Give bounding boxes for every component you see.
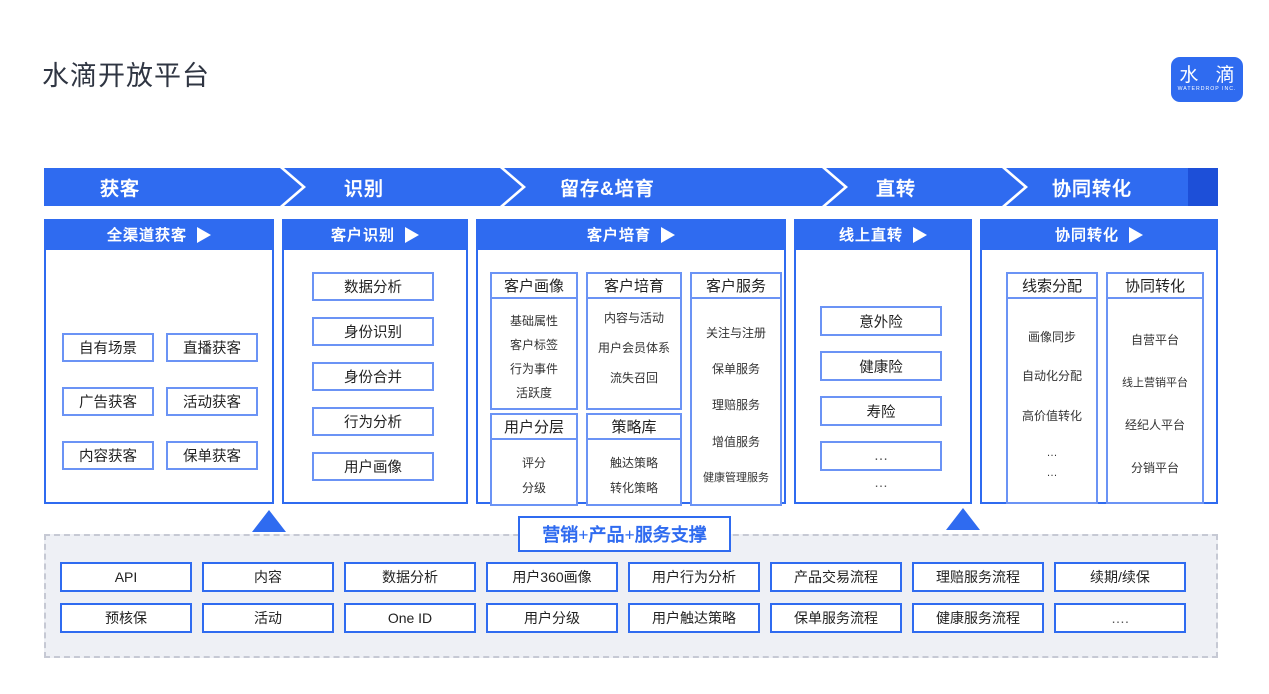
card-item: 高价值转化	[1022, 407, 1082, 424]
support-chip[interactable]: 预核保	[60, 603, 192, 633]
column-header-label: 客户培育	[587, 224, 651, 245]
column-online-direct-conversion: 线上直转 意外险 健康险 寿险 … …	[794, 219, 972, 504]
support-chip[interactable]: 保单服务流程	[770, 603, 902, 633]
card-item: 客户标签	[510, 336, 558, 353]
page-title: 水滴开放平台	[42, 54, 210, 93]
card-user-segmentation: 用户分层 评分 分级	[490, 413, 578, 506]
column-header-label: 全渠道获客	[107, 224, 187, 245]
support-chip[interactable]: API	[60, 562, 192, 592]
card-item: …	[1047, 447, 1058, 459]
card-strategy-library: 策略库 触达策略 转化策略	[586, 413, 682, 506]
play-triangle-icon	[197, 227, 211, 243]
stage-huoke[interactable]: 获客	[44, 168, 292, 206]
chip-item[interactable]: 用户画像	[312, 452, 434, 481]
card-item: 分级	[522, 479, 546, 496]
card-item: 活跃度	[516, 384, 552, 401]
card-item: …	[1047, 467, 1058, 479]
chip-item[interactable]: 寿险	[820, 396, 942, 426]
card-list: 自营平台 线上营销平台 经纪人平台 分销平台	[1106, 299, 1204, 504]
support-chip[interactable]: ….	[1054, 603, 1186, 633]
support-chip[interactable]: 产品交易流程	[770, 562, 902, 592]
column-body: 线索分配 画像同步 自动化分配 高价值转化 … … 协同转化 自营平台 线上营销…	[982, 250, 1216, 502]
card-item: 自动化分配	[1022, 367, 1082, 384]
card-lead-allocation: 线索分配 画像同步 自动化分配 高价值转化 … …	[1006, 272, 1098, 504]
card-item: 内容与活动	[604, 309, 664, 326]
stage-label: 识别	[344, 174, 384, 201]
card-title[interactable]: 策略库	[586, 413, 682, 440]
column-header[interactable]: 客户培育	[476, 219, 786, 250]
card-item: 触达策略	[610, 454, 658, 471]
card-item: 关注与注册	[706, 324, 766, 341]
support-rows: API 内容 数据分析 用户360画像 用户行为分析 产品交易流程 理赔服务流程…	[60, 562, 1206, 644]
stage-tail-accent	[1188, 168, 1218, 206]
logo-en-text: WATERDROP INC.	[1178, 85, 1237, 94]
chip-item[interactable]: 健康险	[820, 351, 942, 381]
stage-shibie[interactable]: 识别	[292, 168, 512, 206]
column-header[interactable]: 全渠道获客	[44, 219, 274, 250]
card-item: 基础属性	[510, 312, 558, 329]
chip-item[interactable]: 身份识别	[312, 317, 434, 346]
column-customer-nurturing: 客户培育 客户画像 基础属性 客户标签 行为事件 活跃度 客户培育 内容与活动 …	[476, 219, 786, 504]
card-list: 关注与注册 保单服务 理赔服务 增值服务 健康管理服务	[690, 299, 782, 506]
support-badge: 营销+产品+服务支撑	[518, 516, 731, 552]
card-list: 画像同步 自动化分配 高价值转化 … …	[1006, 299, 1098, 504]
card-item: 健康管理服务	[703, 469, 769, 485]
play-triangle-icon	[405, 227, 419, 243]
chip-item[interactable]: 行为分析	[312, 407, 434, 436]
card-item: 流失召回	[610, 369, 658, 386]
column-header[interactable]: 线上直转	[794, 219, 972, 250]
stage-xietong[interactable]: 协同转化	[1014, 168, 1218, 206]
column-header-label: 协同转化	[1055, 224, 1119, 245]
support-chip[interactable]: One ID	[344, 603, 476, 633]
support-chip[interactable]: 活动	[202, 603, 334, 633]
logo-cn-text: 水 滴	[1173, 66, 1240, 85]
stage-label: 留存&培育	[560, 174, 655, 201]
stage-zhizhuan[interactable]: 直转	[834, 168, 1014, 206]
chip-item[interactable]: 自有场景	[62, 333, 154, 362]
card-item: 分销平台	[1131, 459, 1179, 476]
column-collaborative-conversion: 协同转化 线索分配 画像同步 自动化分配 高价值转化 … … 协同转化 自营平台…	[980, 219, 1218, 504]
card-title[interactable]: 客户培育	[586, 272, 682, 299]
support-row-2: 预核保 活动 One ID 用户分级 用户触达策略 保单服务流程 健康服务流程 …	[60, 603, 1206, 633]
column-body: 数据分析 身份识别 身份合并 行为分析 用户画像	[284, 250, 466, 502]
stage-label: 获客	[100, 174, 140, 201]
card-item: 自营平台	[1131, 331, 1179, 348]
support-chip[interactable]: 健康服务流程	[912, 603, 1044, 633]
card-list: 内容与活动 用户会员体系 流失召回	[586, 299, 682, 410]
column-body: 意外险 健康险 寿险 … …	[796, 250, 970, 502]
up-arrow-icon-right	[946, 508, 980, 530]
play-triangle-icon	[661, 227, 675, 243]
support-chip[interactable]: 理赔服务流程	[912, 562, 1044, 592]
chip-item[interactable]: …	[820, 441, 942, 471]
card-item: 评分	[522, 454, 546, 471]
card-title[interactable]: 线索分配	[1006, 272, 1098, 299]
support-chip[interactable]: 用户360画像	[486, 562, 618, 592]
column-customer-identification: 客户识别 数据分析 身份识别 身份合并 行为分析 用户画像	[282, 219, 468, 504]
card-item: 保单服务	[712, 360, 760, 377]
column-body: 客户画像 基础属性 客户标签 行为事件 活跃度 客户培育 内容与活动 用户会员体…	[478, 250, 784, 502]
card-item: 画像同步	[1028, 328, 1076, 345]
column-header[interactable]: 协同转化	[980, 219, 1218, 250]
card-list: 评分 分级	[490, 440, 578, 506]
chip-item[interactable]: 活动获客	[166, 387, 258, 416]
capability-columns: 全渠道获客 自有场景 直播获客 广告获客 活动获客 内容获客 保单获客 客户识别…	[44, 219, 1218, 504]
chip-item[interactable]: 内容获客	[62, 441, 154, 470]
card-item: 行为事件	[510, 360, 558, 377]
card-customer-service: 客户服务 关注与注册 保单服务 理赔服务 增值服务 健康管理服务	[690, 272, 782, 506]
card-title[interactable]: 用户分层	[490, 413, 578, 440]
up-arrow-icon-left	[252, 510, 286, 532]
column-body: 自有场景 直播获客 广告获客 活动获客 内容获客 保单获客	[46, 250, 272, 502]
card-title[interactable]: 客户画像	[490, 272, 578, 299]
support-chip[interactable]: 用户行为分析	[628, 562, 760, 592]
stage-label: 直转	[876, 174, 916, 201]
support-row-1: API 内容 数据分析 用户360画像 用户行为分析 产品交易流程 理赔服务流程…	[60, 562, 1206, 592]
card-item: 转化策略	[610, 479, 658, 496]
play-triangle-icon	[913, 227, 927, 243]
stage-chevron-bar: 获客 识别 留存&培育 直转 协同转化	[44, 168, 1218, 206]
chip-item[interactable]: 数据分析	[312, 272, 434, 301]
chip-item[interactable]: 身份合并	[312, 362, 434, 391]
column-header[interactable]: 客户识别	[282, 219, 468, 250]
card-item: 用户会员体系	[598, 339, 670, 356]
support-chip[interactable]: 内容	[202, 562, 334, 592]
chip-item[interactable]: 意外险	[820, 306, 942, 336]
card-list: 触达策略 转化策略	[586, 440, 682, 506]
waterdrop-logo: 水 滴 WATERDROP INC.	[1171, 57, 1243, 102]
card-item: 增值服务	[712, 433, 760, 450]
card-customer-nurturing: 客户培育 内容与活动 用户会员体系 流失召回	[586, 272, 682, 410]
support-layer: API 内容 数据分析 用户360画像 用户行为分析 产品交易流程 理赔服务流程…	[44, 534, 1218, 658]
card-list: 基础属性 客户标签 行为事件 活跃度	[490, 299, 578, 410]
column-header-label: 客户识别	[331, 224, 395, 245]
support-chip[interactable]: 用户分级	[486, 603, 618, 633]
support-chip[interactable]: 用户触达策略	[628, 603, 760, 633]
column-all-channel-acquisition: 全渠道获客 自有场景 直播获客 广告获客 活动获客 内容获客 保单获客	[44, 219, 274, 504]
card-item: 理赔服务	[712, 396, 760, 413]
card-collaborative-conversion: 协同转化 自营平台 线上营销平台 经纪人平台 分销平台	[1106, 272, 1204, 504]
card-title[interactable]: 协同转化	[1106, 272, 1204, 299]
support-chip[interactable]: 续期/续保	[1054, 562, 1186, 592]
chip-item[interactable]: 直播获客	[166, 333, 258, 362]
chip-item[interactable]: 保单获客	[166, 441, 258, 470]
card-item: 线上营销平台	[1122, 374, 1188, 390]
column-header-label: 线上直转	[839, 224, 903, 245]
card-item: 经纪人平台	[1125, 416, 1185, 433]
ellipsis-more: …	[820, 474, 942, 490]
chip-item[interactable]: 广告获客	[62, 387, 154, 416]
card-title[interactable]: 客户服务	[690, 272, 782, 299]
stage-label: 协同转化	[1052, 174, 1132, 201]
card-customer-profile: 客户画像 基础属性 客户标签 行为事件 活跃度	[490, 272, 578, 410]
stage-liucun[interactable]: 留存&培育	[512, 168, 834, 206]
support-chip[interactable]: 数据分析	[344, 562, 476, 592]
play-triangle-icon	[1129, 227, 1143, 243]
